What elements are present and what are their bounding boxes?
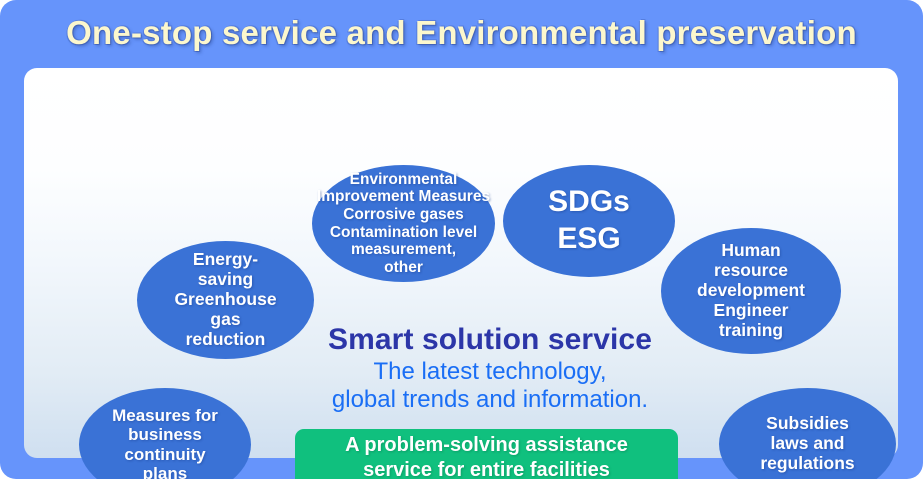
content-panel: Environmental Improvement Measures Corro… (24, 68, 898, 458)
center-text-block: Smart solution service The latest techno… (255, 324, 725, 414)
callout-banner[interactable]: A problem-solving assistance service for… (295, 429, 678, 479)
page-title: One-stop service and Environmental prese… (66, 14, 857, 52)
bubble-business-continuity-plans[interactable]: Measures for business continuity plans (79, 388, 251, 479)
bubble-environmental-improvement[interactable]: Environmental Improvement Measures Corro… (312, 165, 495, 282)
infographic-root: One-stop service and Environmental prese… (0, 0, 923, 479)
bubble-label: Environmental Improvement Measures Corro… (312, 171, 495, 277)
bubble-label: Measures for business continuity plans (79, 406, 251, 479)
bubble-subsidies-laws-regulations[interactable]: Subsidies laws and regulations (719, 388, 896, 479)
center-headline: Smart solution service (255, 324, 725, 356)
banner-header: One-stop service and Environmental prese… (0, 0, 923, 66)
center-subline: The latest technology, global trends and… (255, 358, 725, 414)
callout-label: A problem-solving assistance service for… (345, 433, 628, 479)
bubble-label: Subsidies laws and regulations (719, 414, 896, 474)
bubble-sdgs-esg[interactable]: SDGs ESG (503, 165, 675, 277)
bubble-label: SDGs ESG (503, 184, 675, 257)
